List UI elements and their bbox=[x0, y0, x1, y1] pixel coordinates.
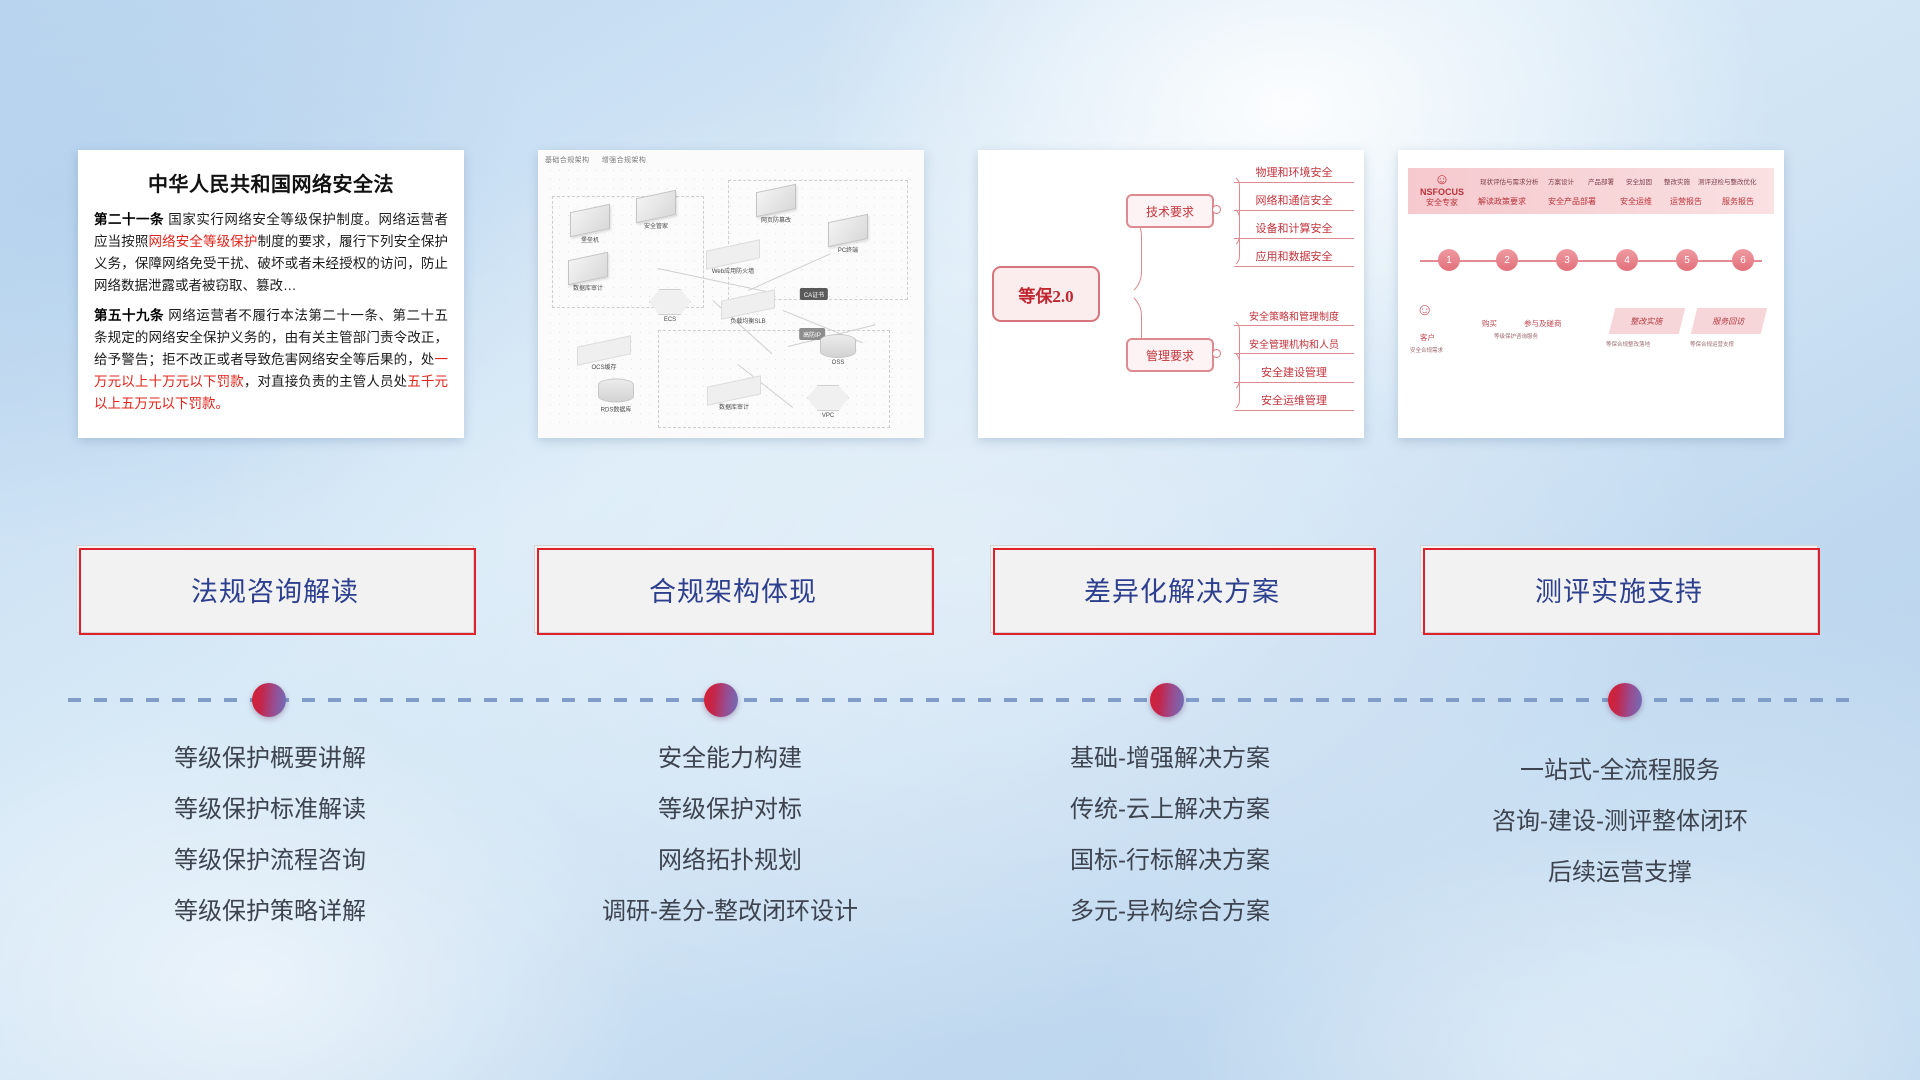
roadmap-step: 4 bbox=[1616, 249, 1638, 271]
architecture-node: OCS缓存 bbox=[577, 341, 631, 371]
roadmap-caption: 运营报告 bbox=[1670, 196, 1702, 207]
title-label: 法规咨询解读 bbox=[191, 570, 359, 609]
bullet-column-1: 等级保护概要讲解 等级保护标准解读 等级保护流程咨询 等级保护策略详解 bbox=[70, 740, 470, 944]
law-card-title: 中华人民共和国网络安全法 bbox=[94, 168, 448, 197]
law-article-21-highlight: 网络安全等级保护 bbox=[148, 234, 257, 249]
architecture-node: 负载均衡SLB bbox=[721, 295, 775, 325]
bullet-column-4: 一站式-全流程服务 咨询-建设-测评整体闭环 后续运营支撑 bbox=[1400, 752, 1840, 905]
architecture-node: RDS数据库 bbox=[598, 379, 634, 414]
architecture-node-label: OSS bbox=[820, 360, 856, 366]
roadmap-tag: 客户 bbox=[1420, 332, 1435, 343]
roadmap-step: 1 bbox=[1438, 249, 1460, 271]
roadmap-expert-badge: ☺ NSFOCUS 安全专家 bbox=[1414, 172, 1470, 212]
customer-person-icon: ☺ bbox=[1416, 300, 1433, 320]
roadmap-diagram: ☺ NSFOCUS 安全专家 现状评估与需求分析 方案设计 产品部署 安全加固 … bbox=[1398, 150, 1784, 438]
bullet-item: 等级保护对标 bbox=[520, 791, 940, 830]
server-icon bbox=[756, 184, 796, 218]
roadmap-parallelogram: 整改实施 bbox=[1609, 308, 1685, 334]
roadmap-subtext: 等保合规整改落地 bbox=[1606, 340, 1650, 348]
architecture-node: 数据库审计 bbox=[568, 256, 608, 292]
roadmap-chip: 产品部署 bbox=[1588, 176, 1614, 186]
server-icon bbox=[636, 190, 676, 224]
timeline-dot-1[interactable] bbox=[252, 683, 286, 717]
roadmap-caption: 解读政策要求 bbox=[1478, 196, 1526, 207]
roadmap-badge-line1: NSFOCUS bbox=[1414, 187, 1470, 198]
architecture-node: 堡垒机 bbox=[570, 208, 610, 244]
mindmap-leaf: 设备和计算安全 bbox=[1234, 220, 1354, 239]
bullet-item: 后续运营支撑 bbox=[1400, 854, 1840, 893]
architecture-node: VPC bbox=[807, 385, 849, 419]
timeline-dot-2[interactable] bbox=[704, 683, 738, 717]
roadmap-subtext: 等保合规运营支撑 bbox=[1690, 340, 1734, 348]
bullet-columns: 等级保护概要讲解 等级保护标准解读 等级保护流程咨询 等级保护策略详解 安全能力… bbox=[0, 740, 1920, 960]
mindmap-branch-technical: 技术要求 bbox=[1126, 194, 1214, 228]
thumbnail-row: 中华人民共和国网络安全法 第二十一条 国家实行网络安全等级保护制度。网络运营者应… bbox=[0, 150, 1920, 440]
roadmap-subtext: 等级保护咨询服务 bbox=[1494, 332, 1538, 340]
law-card[interactable]: 中华人民共和国网络安全法 第二十一条 国家实行网络安全等级保护制度。网络运营者应… bbox=[78, 150, 464, 438]
roadmap-step: 3 bbox=[1556, 249, 1578, 271]
law-article-59-number: 第五十九条 bbox=[94, 308, 164, 323]
architecture-node-label: VPC bbox=[807, 413, 849, 419]
roadmap-parallelogram: 服务回访 bbox=[1691, 308, 1767, 334]
timeline-dot-4[interactable] bbox=[1608, 683, 1642, 717]
mindmap-root: 等保2.0 bbox=[992, 266, 1100, 322]
law-card-body: 中华人民共和国网络安全法 第二十一条 国家实行网络安全等级保护制度。网络运营者应… bbox=[78, 150, 464, 438]
expert-person-icon: ☺ bbox=[1414, 172, 1470, 187]
architecture-header: 基础合规架构 增强合规架构 bbox=[545, 155, 656, 165]
architecture-node: 安全管家 bbox=[636, 194, 676, 230]
bullet-column-2: 安全能力构建 等级保护对标 网络拓扑规划 调研-差分-整改闭环设计 bbox=[520, 740, 940, 944]
architecture-node-label: 网页防篡改 bbox=[756, 215, 796, 224]
architecture-node: OSS bbox=[820, 334, 856, 366]
server-icon bbox=[570, 204, 610, 238]
roadmap-step: 6 bbox=[1732, 249, 1754, 271]
title-label: 差异化解决方案 bbox=[1084, 570, 1280, 609]
architecture-diagram: 基础合规架构 增强合规架构 堡垒机 安 bbox=[538, 150, 924, 438]
title-box-evaluation-support[interactable]: 测评实施支持 bbox=[1420, 545, 1818, 633]
architecture-node-label: 安全管家 bbox=[636, 221, 676, 230]
roadmap-timeline bbox=[1420, 260, 1762, 262]
roadmap-step: 2 bbox=[1496, 249, 1518, 271]
architecture-node-label: RDS数据库 bbox=[598, 405, 634, 414]
architecture-node: PC终端 bbox=[828, 218, 868, 254]
vpc-icon bbox=[807, 385, 849, 411]
roadmap-chip: 方案设计 bbox=[1548, 176, 1574, 186]
architecture-node: Web应用防火墙 bbox=[706, 245, 760, 275]
architecture-node-label: 数据库审计 bbox=[568, 283, 608, 292]
architecture-node: ECS bbox=[649, 289, 691, 323]
law-article-59-text-b: ，对直接负责的主管人员处 bbox=[244, 374, 407, 389]
roadmap-caption: 安全产品部署 bbox=[1548, 196, 1596, 207]
law-article-21: 第二十一条 国家实行网络安全等级保护制度。网络运营者应当按照网络安全等级保护制度… bbox=[94, 209, 448, 296]
timeline-dot-3[interactable] bbox=[1150, 683, 1184, 717]
roadmap-chip: 安全加固 bbox=[1626, 176, 1652, 186]
roadmap-caption: 安全运维 bbox=[1620, 196, 1652, 207]
roadmap-badge-line2: 安全专家 bbox=[1414, 198, 1470, 208]
ecs-icon bbox=[649, 289, 691, 315]
bullet-item: 等级保护概要讲解 bbox=[70, 740, 470, 779]
law-article-21-number: 第二十一条 bbox=[94, 212, 164, 227]
roadmap-subtext: 安全合规需求 bbox=[1410, 346, 1443, 354]
mindmap-leaf: 安全建设管理 bbox=[1234, 364, 1354, 383]
bullet-item: 等级保护策略详解 bbox=[70, 893, 470, 932]
mindmap-card[interactable]: 等保2.0 技术要求 管理要求 物理和环境安全 网络和通信安全 设备和计算安全 … bbox=[978, 150, 1364, 438]
bullet-item: 等级保护流程咨询 bbox=[70, 842, 470, 881]
title-box-regulation-consulting[interactable]: 法规咨询解读 bbox=[76, 545, 474, 633]
bullet-item: 基础-增强解决方案 bbox=[960, 740, 1380, 779]
roadmap-chip: 整改实施 bbox=[1664, 176, 1690, 186]
oss-icon bbox=[820, 334, 856, 358]
architecture-pill: CA证书 bbox=[800, 288, 828, 300]
mindmap-leaf: 安全策略和管理制度 bbox=[1234, 308, 1354, 326]
bullet-item: 咨询-建设-测评整体闭环 bbox=[1400, 803, 1840, 842]
bullet-item: 一站式-全流程服务 bbox=[1400, 752, 1840, 791]
architecture-node: 网页防篡改 bbox=[756, 188, 796, 224]
mindmap-leaf: 网络和通信安全 bbox=[1234, 192, 1354, 211]
roadmap-chip: 现状评估与需求分析 bbox=[1480, 176, 1539, 186]
roadmap-caption: 服务报告 bbox=[1722, 196, 1754, 207]
mindmap-diagram: 等保2.0 技术要求 管理要求 物理和环境安全 网络和通信安全 设备和计算安全 … bbox=[978, 150, 1364, 438]
roadmap-chip: 测评迎检与整改优化 bbox=[1698, 176, 1757, 186]
mindmap-leaf: 应用和数据安全 bbox=[1234, 248, 1354, 267]
architecture-node-label: 堡垒机 bbox=[570, 235, 610, 244]
architecture-node-label: ECS bbox=[649, 317, 691, 323]
timeline-dashed-line bbox=[68, 698, 1852, 702]
mindmap-leaf: 物理和环境安全 bbox=[1234, 164, 1354, 183]
title-label: 合规架构体现 bbox=[649, 570, 817, 609]
database-icon bbox=[598, 379, 634, 403]
bullet-item: 调研-差分-整改闭环设计 bbox=[520, 893, 940, 932]
roadmap-tag: 参与及磋商 bbox=[1524, 318, 1562, 329]
bullet-item: 传统-云上解决方案 bbox=[960, 791, 1380, 830]
title-box-compliance-architecture[interactable]: 合规架构体现 bbox=[534, 545, 932, 633]
title-label: 测评实施支持 bbox=[1535, 570, 1703, 609]
law-article-59: 第五十九条 网络运营者不履行本法第二十一条、第二十五条规定的网络安全保护义务的，… bbox=[94, 305, 448, 414]
roadmap-card[interactable]: ☺ NSFOCUS 安全专家 现状评估与需求分析 方案设计 产品部署 安全加固 … bbox=[1398, 150, 1784, 438]
architecture-header-left: 基础合规架构 bbox=[545, 157, 589, 164]
mindmap-branch-management: 管理要求 bbox=[1126, 338, 1214, 372]
bullet-column-3: 基础-增强解决方案 传统-云上解决方案 国标-行标解决方案 多元-异构综合方案 bbox=[960, 740, 1380, 944]
roadmap-step: 5 bbox=[1676, 249, 1698, 271]
server-icon bbox=[828, 214, 868, 248]
architecture-node: 数据库审计 bbox=[707, 381, 761, 411]
bullet-item: 国标-行标解决方案 bbox=[960, 842, 1380, 881]
mindmap-leaf: 安全管理机构和人员 bbox=[1234, 336, 1354, 354]
bullet-item: 等级保护标准解读 bbox=[70, 791, 470, 830]
server-icon bbox=[568, 252, 608, 286]
slide-stage: 中华人民共和国网络安全法 第二十一条 国家实行网络安全等级保护制度。网络运营者应… bbox=[0, 0, 1920, 1080]
roadmap-tag: 购买 bbox=[1482, 318, 1497, 329]
title-row: 法规咨询解读 合规架构体现 差异化解决方案 测评实施支持 bbox=[0, 545, 1920, 635]
architecture-header-right: 增强合规架构 bbox=[602, 157, 646, 164]
title-box-differentiated-solution[interactable]: 差异化解决方案 bbox=[990, 545, 1374, 633]
architecture-node-label: PC终端 bbox=[828, 245, 868, 254]
mindmap-leaf: 安全运维管理 bbox=[1234, 392, 1354, 411]
bullet-item: 多元-异构综合方案 bbox=[960, 893, 1380, 932]
bullet-item: 网络拓扑规划 bbox=[520, 842, 940, 881]
bullet-item: 安全能力构建 bbox=[520, 740, 940, 779]
architecture-card[interactable]: 基础合规架构 增强合规架构 堡垒机 安 bbox=[538, 150, 924, 438]
